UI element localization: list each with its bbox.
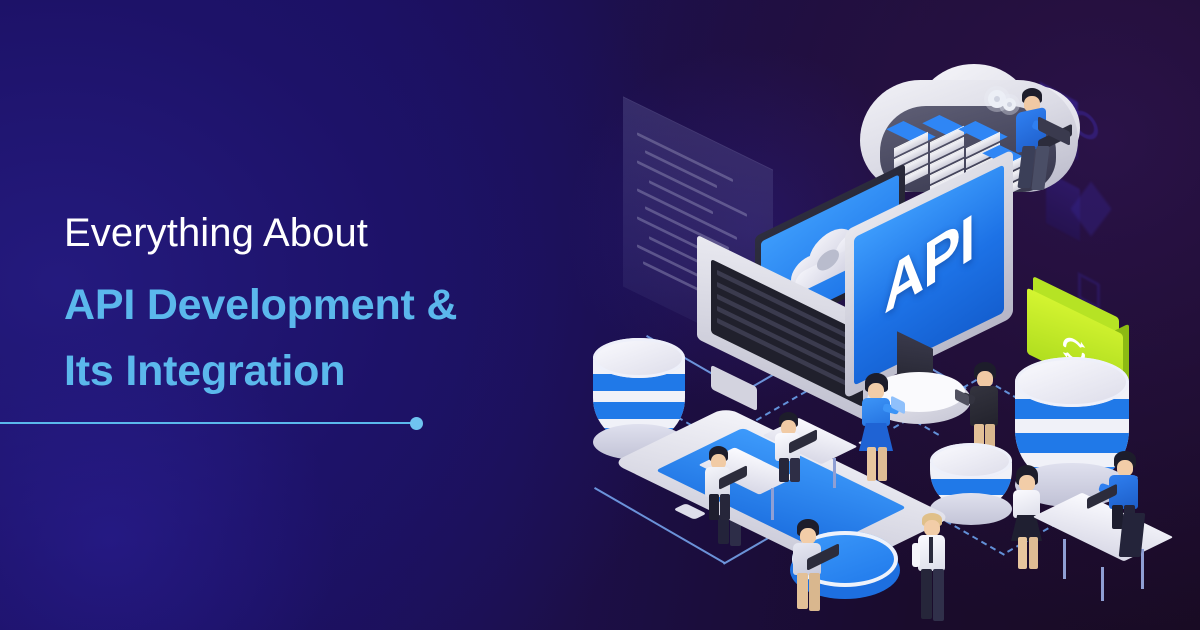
illustration-stage: API <box>575 35 1200 630</box>
person-figure <box>701 446 745 522</box>
desk-leg <box>1063 539 1066 579</box>
person-figure <box>911 513 959 623</box>
desk-leg <box>1101 567 1104 601</box>
person-figure <box>853 373 903 489</box>
banner-root: Everything About API Development & Its I… <box>0 0 1200 630</box>
database-top <box>593 338 685 378</box>
database-top <box>930 443 1012 479</box>
divider-line <box>0 422 414 424</box>
person-figure <box>1103 451 1151 559</box>
api-label: API <box>864 186 994 342</box>
database-top <box>1015 357 1129 407</box>
person-figure <box>771 412 815 486</box>
person-figure <box>1010 88 1070 198</box>
divider-dot <box>410 417 423 430</box>
person-figure <box>787 519 835 615</box>
headline-divider <box>0 417 430 431</box>
laptop-trackpad <box>711 365 757 411</box>
